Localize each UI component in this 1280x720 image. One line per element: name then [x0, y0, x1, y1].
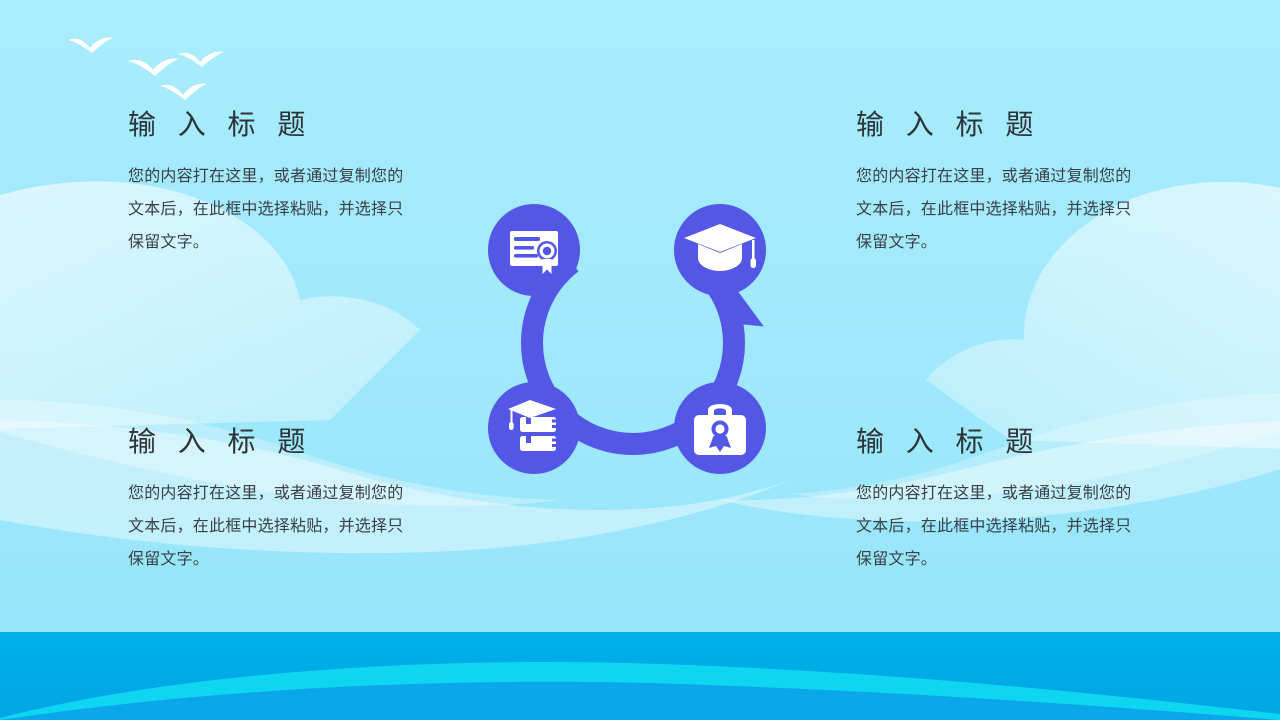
block-title-top-left: 输 入 标 题 — [128, 108, 428, 142]
cycle-node-top-left[interactable] — [488, 204, 580, 296]
block-title-top-right: 输 入 标 题 — [856, 108, 1156, 142]
block-body-bottom-right: 您的内容打在这里，或者通过复制您的文本后，在此框中选择粘贴，并选择只保留文字。 — [856, 477, 1138, 576]
slide-canvas: 输 入 标 题 您的内容打在这里，或者通过复制您的文本后，在此框中选择粘贴，并选… — [0, 0, 1280, 720]
bird-4-icon — [160, 84, 207, 100]
cycle-diagram — [468, 188, 798, 498]
cycle-node-bottom-left[interactable] — [488, 382, 580, 474]
text-block-top-right: 输 入 标 题 您的内容打在这里，或者通过复制您的文本后，在此框中选择粘贴，并选… — [856, 108, 1156, 259]
cycle-node-bottom-right[interactable] — [674, 382, 766, 474]
text-block-top-left: 输 入 标 题 您的内容打在这里，或者通过复制您的文本后，在此框中选择粘贴，并选… — [128, 108, 428, 259]
footer-band — [0, 632, 1280, 720]
text-block-bottom-right: 输 入 标 题 您的内容打在这里，或者通过复制您的文本后，在此框中选择粘贴，并选… — [856, 425, 1156, 576]
block-body-top-left: 您的内容打在这里，或者通过复制您的文本后，在此框中选择粘贴，并选择只保留文字。 — [128, 160, 410, 259]
block-body-top-right: 您的内容打在这里，或者通过复制您的文本后，在此框中选择粘贴，并选择只保留文字。 — [856, 160, 1138, 259]
bird-1-icon — [68, 38, 113, 53]
bird-3-icon — [178, 52, 224, 67]
block-title-bottom-left: 输 入 标 题 — [128, 425, 428, 459]
birds-group — [68, 38, 224, 100]
block-title-bottom-right: 输 入 标 题 — [856, 425, 1156, 459]
cycle-node-top-right[interactable] — [674, 204, 766, 296]
block-body-bottom-left: 您的内容打在这里，或者通过复制您的文本后，在此框中选择粘贴，并选择只保留文字。 — [128, 477, 410, 576]
bird-2-icon — [128, 59, 179, 76]
text-block-bottom-left: 输 入 标 题 您的内容打在这里，或者通过复制您的文本后，在此框中选择粘贴，并选… — [128, 425, 428, 576]
